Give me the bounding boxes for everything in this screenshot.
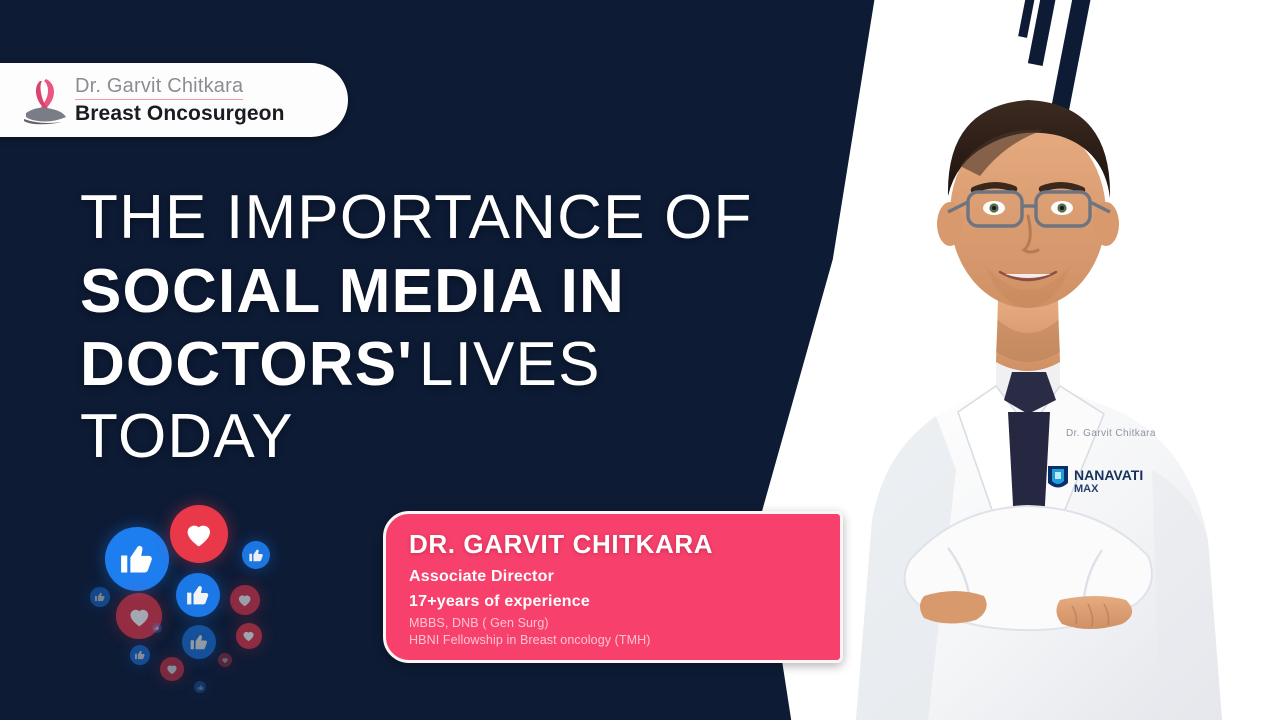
- headline-line-4-text: TODAY: [80, 402, 294, 471]
- reaction-bubble-love: [230, 585, 260, 615]
- reaction-bubble-love: [160, 657, 184, 681]
- doctor-name: DR. GARVIT CHITKARA: [409, 530, 840, 559]
- pink-ribbon-in-hand-icon: [22, 75, 68, 125]
- headline-line-1: THE IMPORTANCE OF: [80, 186, 753, 250]
- heart-icon: [182, 517, 216, 551]
- reaction-bubble-like: [176, 573, 220, 617]
- reaction-bubble-love: [236, 623, 262, 649]
- thumbs-up-icon: [94, 591, 106, 603]
- doctor-credential-1: MBBS, DNB ( Gen Surg): [409, 616, 840, 630]
- headline-line-1-text: THE IMPORTANCE OF: [80, 183, 753, 252]
- doctor-role: Associate Director: [409, 568, 840, 586]
- brand-logo-badge[interactable]: Dr. Garvit Chitkara Breast Oncosurgeon: [0, 63, 348, 137]
- thumbs-up-icon: [134, 649, 146, 661]
- doctor-experience: 17+years of experience: [409, 593, 840, 611]
- headline-line-2-text: SOCIAL MEDIA IN: [80, 257, 625, 326]
- thumbs-up-icon: [118, 540, 155, 577]
- coat-logo-text: NANAVATI: [1074, 467, 1143, 483]
- thumbnail-canvas: Dr. Garvit Chitkara NANAVATI MAX Dr. Gar…: [0, 0, 1280, 720]
- reaction-bubble-like: [152, 623, 162, 633]
- heart-icon: [126, 603, 153, 630]
- heart-icon: [236, 591, 253, 608]
- thumbs-up-icon: [154, 625, 160, 631]
- heart-icon: [221, 656, 229, 664]
- coat-logo-subtext: MAX: [1074, 483, 1099, 495]
- reaction-bubble-like: [130, 645, 150, 665]
- heart-icon: [241, 628, 256, 643]
- reaction-bubble-like: [105, 527, 169, 591]
- headline-line-4: TODAY: [80, 405, 753, 469]
- thumbs-up-icon: [197, 684, 204, 691]
- headline-line-3-bold: DOCTORS': [80, 330, 413, 399]
- heart-icon: [165, 662, 179, 676]
- thumbs-up-icon: [248, 547, 264, 563]
- doctor-name-card: DR. GARVIT CHITKARA Associate Director 1…: [383, 511, 843, 663]
- reaction-bubble-like: [242, 541, 270, 569]
- headline-block: THE IMPORTANCE OF SOCIAL MEDIA IN DOCTOR…: [80, 186, 753, 470]
- headline-line-3: DOCTORS' LIVES: [80, 333, 753, 397]
- reaction-bubble-like: [182, 625, 216, 659]
- reaction-bubble-like: [90, 587, 110, 607]
- reaction-bubble-love: [218, 653, 232, 667]
- coat-name-embroidery: Dr. Garvit Chitkara: [1066, 428, 1156, 439]
- reaction-bubble-love: [170, 505, 228, 563]
- reaction-bubble-like: [194, 681, 206, 693]
- brand-logo-line-2: Breast Oncosurgeon: [75, 103, 285, 124]
- brand-logo-text: Dr. Garvit Chitkara Breast Oncosurgeon: [75, 76, 285, 124]
- headline-line-3-light: LIVES: [419, 330, 601, 399]
- doctor-credential-2: HBNI Fellowship in Breast oncology (TMH): [409, 633, 840, 647]
- thumbs-up-icon: [189, 632, 209, 652]
- headline-line-2: SOCIAL MEDIA IN: [80, 260, 753, 324]
- brand-logo-line-1: Dr. Garvit Chitkara: [75, 76, 243, 100]
- thumbs-up-icon: [185, 582, 211, 608]
- social-reaction-bubbles: [90, 505, 300, 705]
